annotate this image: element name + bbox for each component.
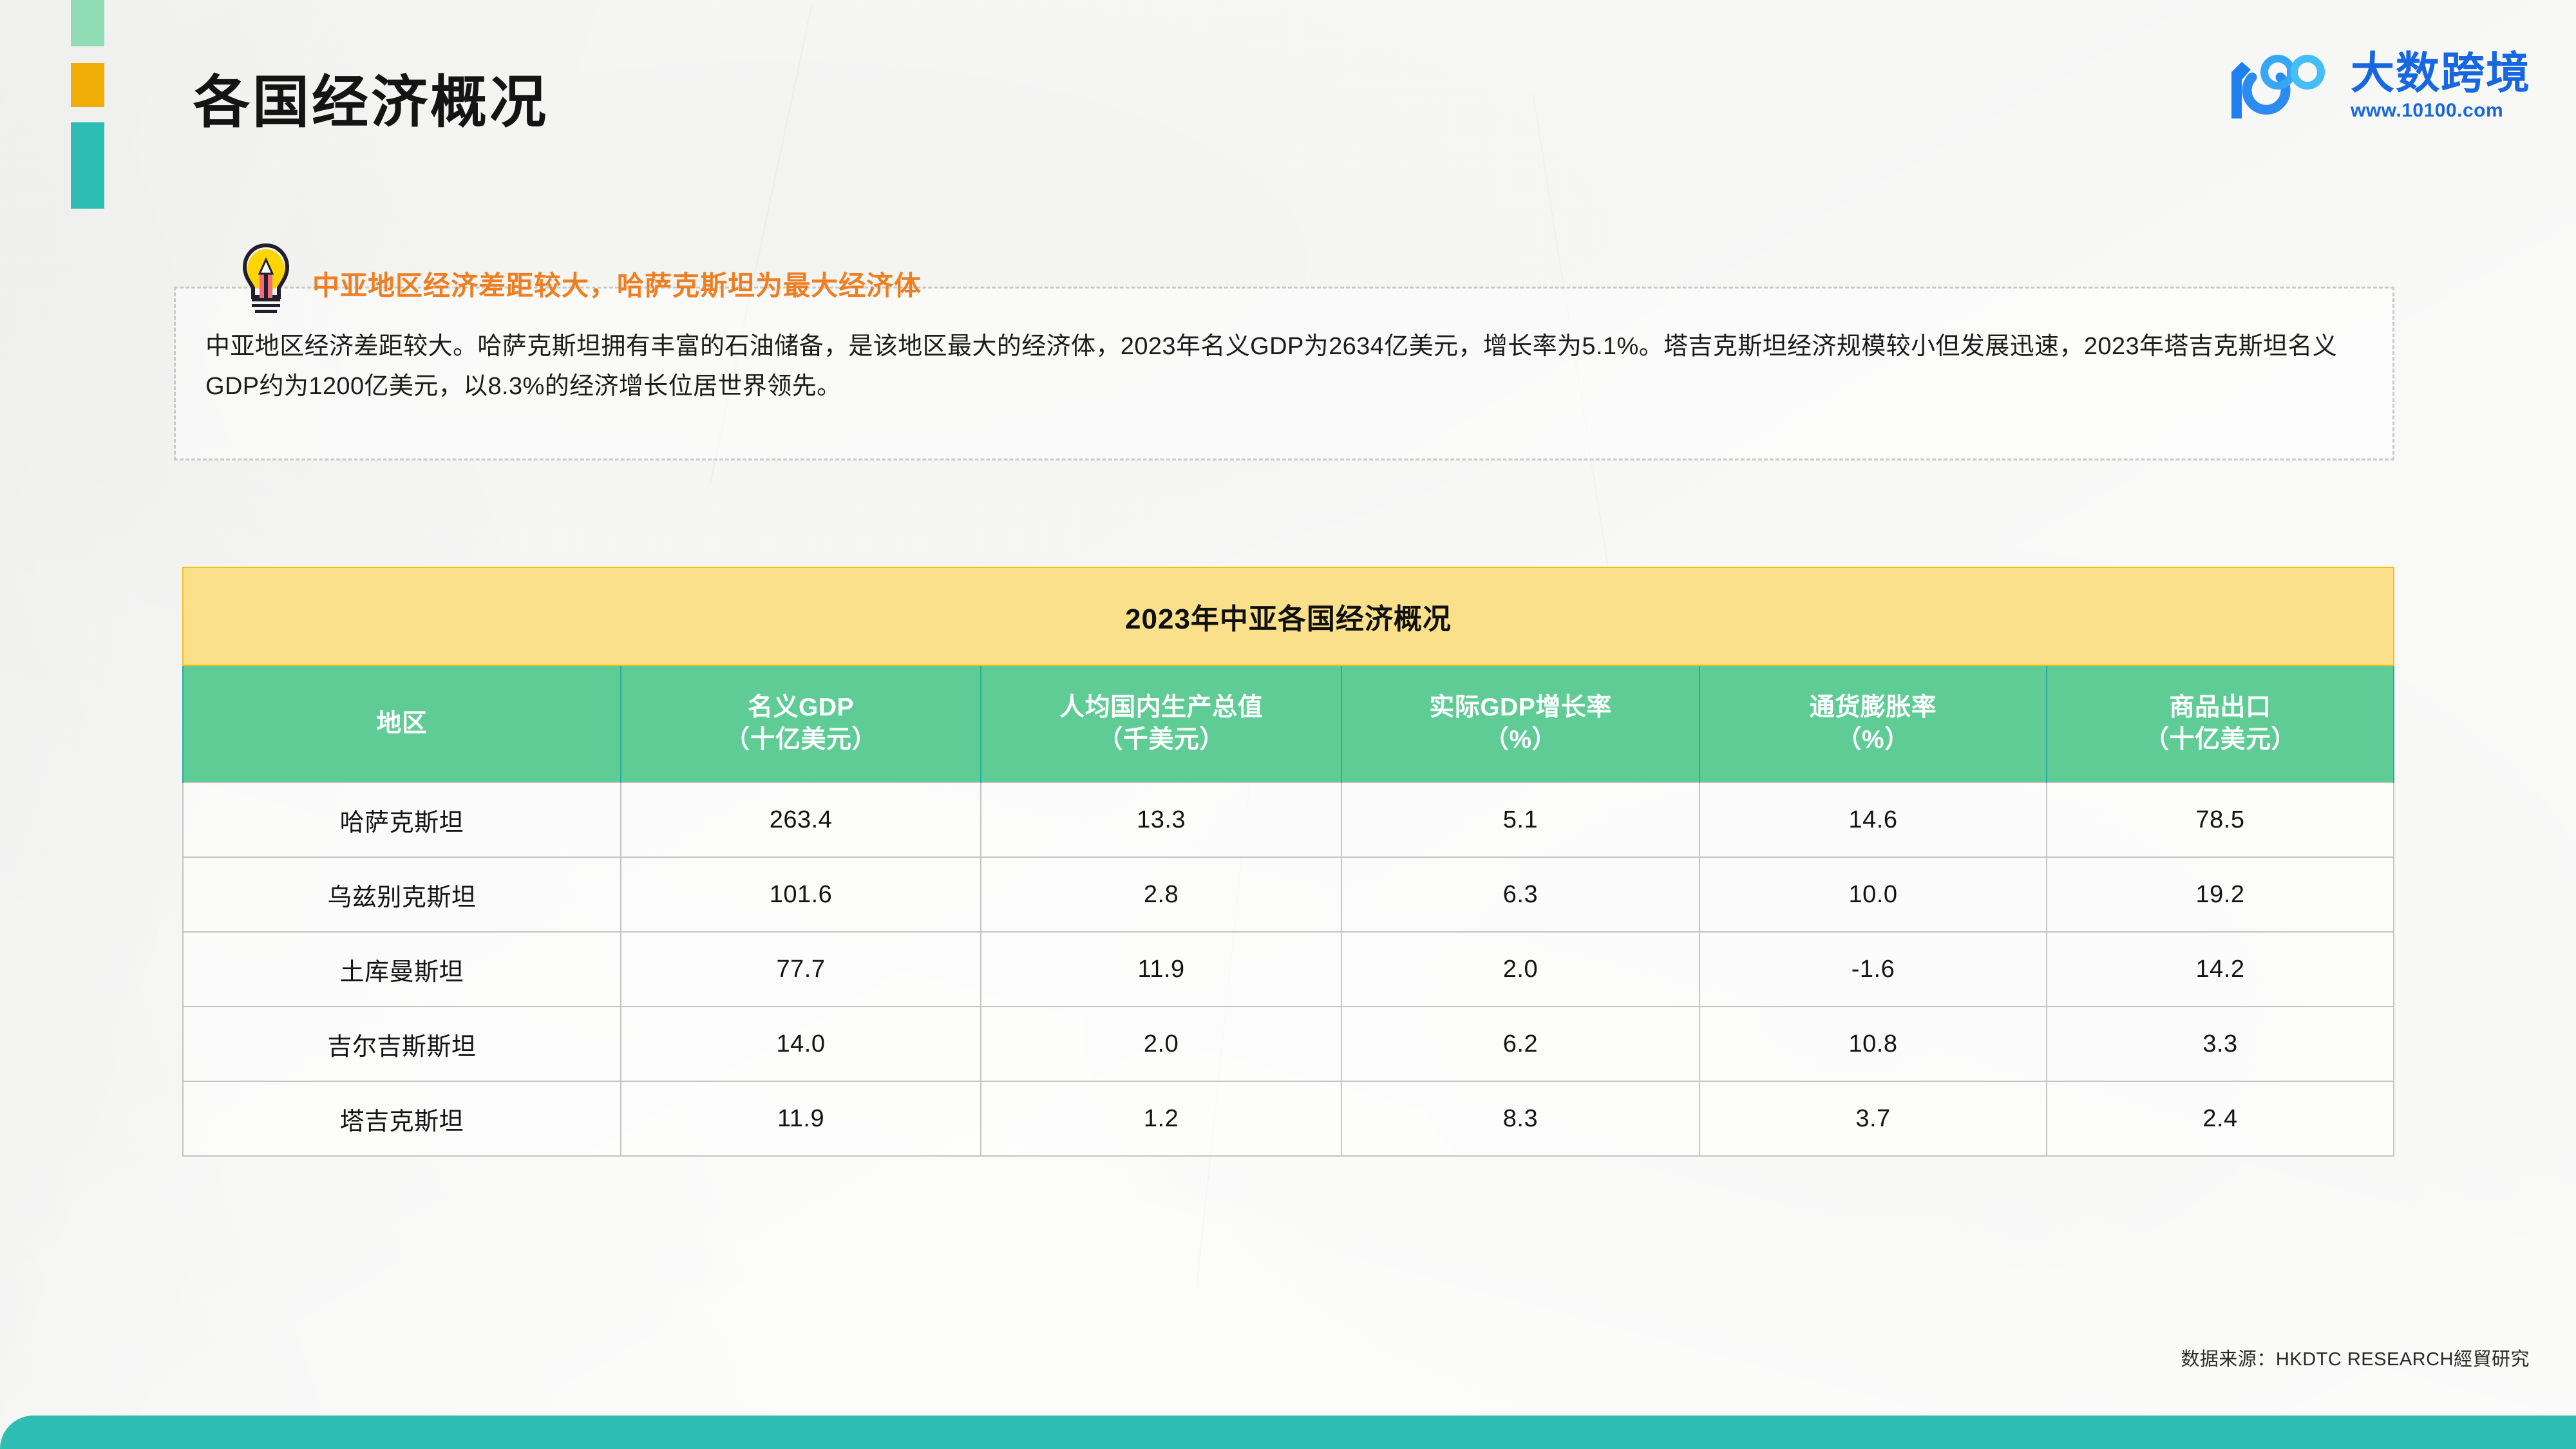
accent-bar-green	[71, 0, 104, 46]
column-header-line2: （%）	[1342, 724, 1699, 756]
column-header-nominal-gdp: 名义GDP （十亿美元）	[621, 665, 981, 782]
cell-gdp-per-capita: 2.0	[981, 1007, 1341, 1081]
column-header-inflation: 通货膨胀率 （%）	[1700, 665, 2047, 782]
lightbulb-idea-icon	[234, 240, 298, 316]
table-row: 塔吉克斯坦 11.9 1.2 8.3 3.7 2.4	[183, 1081, 2394, 1156]
economy-table: 2023年中亚各国经济概况 地区 名义GDP （十亿美元） 人均国内生产总值 （…	[182, 567, 2394, 1157]
cell-nominal-gdp: 101.6	[621, 857, 981, 932]
cell-exports: 14.2	[2047, 932, 2394, 1007]
cell-inflation: 14.6	[1700, 782, 2047, 857]
cell-real-growth: 5.1	[1341, 782, 1700, 857]
logo-url: www.10100.com	[2351, 100, 2503, 122]
table-row: 哈萨克斯坦 263.4 13.3 5.1 14.6 78.5	[183, 782, 2394, 857]
table-title-row: 2023年中亚各国经济概况	[183, 567, 2394, 665]
cell-nominal-gdp: 263.4	[621, 782, 981, 857]
cell-nominal-gdp: 77.7	[621, 932, 981, 1007]
accent-bar-gap	[71, 46, 104, 63]
cell-real-growth: 8.3	[1341, 1081, 1700, 1156]
cell-exports: 2.4	[2047, 1081, 2394, 1156]
cell-real-growth: 6.3	[1341, 857, 1700, 932]
insight-callout-box: 中亚地区经济差距较大，哈萨克斯坦为最大经济体 中亚地区经济差距较大。哈萨克斯坦拥…	[174, 287, 2394, 460]
cell-region: 吉尔吉斯斯坦	[183, 1007, 621, 1081]
logo-10100-mark	[2222, 50, 2342, 124]
data-source-note: 数据来源：HKDTC RESEARCH經貿研究	[2181, 1344, 2530, 1371]
cell-inflation: 10.8	[1700, 1007, 2047, 1081]
column-header-line2: （%）	[1700, 724, 2046, 756]
cell-region: 哈萨克斯坦	[183, 782, 621, 857]
table-row: 土库曼斯坦 77.7 11.9 2.0 -1.6 14.2	[183, 932, 2394, 1007]
cell-exports: 78.5	[2047, 782, 2394, 857]
logo-brand-name: 大数跨境	[2351, 52, 2531, 96]
column-header-line2: （十亿美元）	[621, 724, 981, 756]
accent-bar-orange	[71, 63, 104, 107]
table-row: 吉尔吉斯斯坦 14.0 2.0 6.2 10.8 3.3	[183, 1007, 2394, 1081]
cell-real-growth: 6.2	[1341, 1007, 1700, 1081]
logo-text: 大数跨境 www.10100.com	[2351, 50, 2531, 122]
column-header-line1: 人均国内生产总值	[981, 692, 1341, 724]
accent-bar-gap	[71, 107, 104, 122]
accent-bar-teal	[71, 122, 104, 209]
callout-headline: 中亚地区经济差距较大，哈萨克斯坦为最大经济体	[312, 264, 922, 303]
column-header-line1: 地区	[184, 708, 620, 740]
column-header-gdp-per-capita: 人均国内生产总值 （千美元）	[981, 665, 1341, 782]
column-header-line2: （千美元）	[981, 724, 1341, 756]
callout-body-text: 中亚地区经济差距较大。哈萨克斯坦拥有丰富的石油储备，是该地区最大的经济体，202…	[205, 327, 2367, 406]
table-title: 2023年中亚各国经济概况	[183, 567, 2394, 665]
column-header-line1: 通货膨胀率	[1700, 692, 2046, 724]
cell-gdp-per-capita: 11.9	[981, 932, 1341, 1007]
cell-region: 塔吉克斯坦	[183, 1081, 621, 1156]
cell-inflation: 3.7	[1700, 1081, 2047, 1156]
cell-exports: 3.3	[2047, 1007, 2394, 1081]
cell-region: 乌兹别克斯坦	[183, 857, 621, 932]
brand-logo: 大数跨境 www.10100.com	[2222, 50, 2531, 124]
accent-bar-group	[71, 0, 104, 209]
page-title: 各国经济概况	[193, 74, 549, 131]
column-header-line1: 名义GDP	[621, 692, 981, 724]
column-header-region: 地区	[183, 665, 621, 782]
table-row: 乌兹别克斯坦 101.6 2.8 6.3 10.0 19.2	[183, 857, 2394, 932]
cell-gdp-per-capita: 2.8	[981, 857, 1341, 932]
cell-inflation: 10.0	[1700, 857, 2047, 932]
cell-inflation: -1.6	[1700, 932, 2047, 1007]
cell-region: 土库曼斯坦	[183, 932, 621, 1007]
cell-gdp-per-capita: 13.3	[981, 782, 1341, 857]
column-header-real-gdp-growth: 实际GDP增长率 （%）	[1341, 665, 1700, 782]
column-header-line2: （十亿美元）	[2047, 724, 2393, 756]
cell-real-growth: 2.0	[1341, 932, 1700, 1007]
column-header-line1: 商品出口	[2047, 692, 2393, 724]
column-header-line1: 实际GDP增长率	[1342, 692, 1699, 724]
cell-nominal-gdp: 11.9	[621, 1081, 981, 1156]
cell-nominal-gdp: 14.0	[621, 1007, 981, 1081]
cell-gdp-per-capita: 1.2	[981, 1081, 1341, 1156]
economy-table-container: 2023年中亚各国经济概况 地区 名义GDP （十亿美元） 人均国内生产总值 （…	[182, 567, 2394, 1157]
bottom-accent-bar	[0, 1416, 2576, 1449]
cell-exports: 19.2	[2047, 857, 2394, 932]
table-header-row: 地区 名义GDP （十亿美元） 人均国内生产总值 （千美元） 实际GDP增长率 …	[183, 665, 2394, 782]
column-header-merchandise-exports: 商品出口 （十亿美元）	[2047, 665, 2394, 782]
